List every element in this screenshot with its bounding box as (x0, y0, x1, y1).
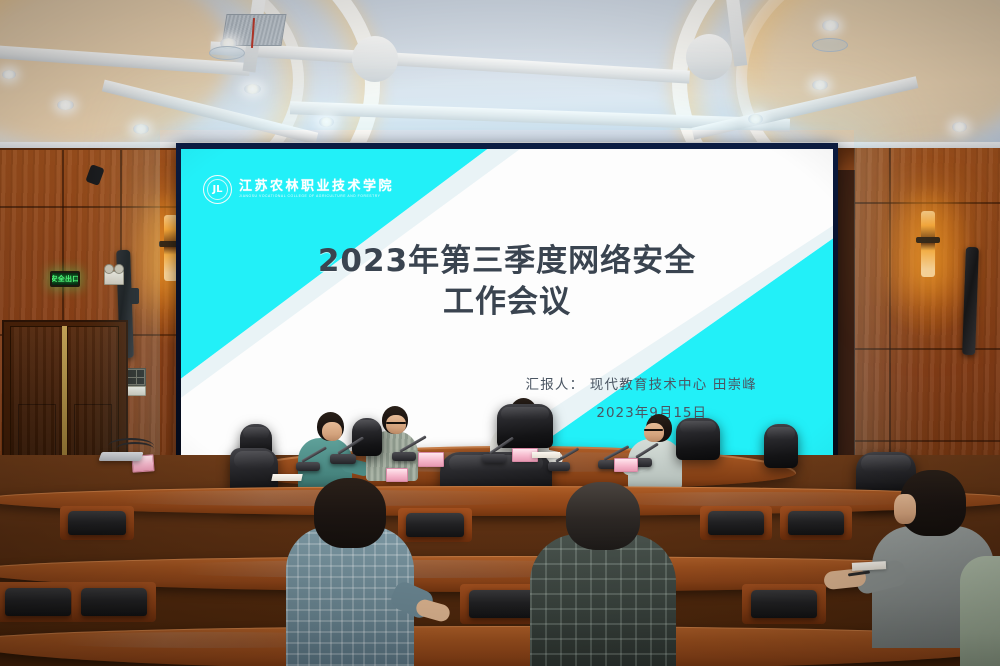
downlight-8 (748, 114, 763, 124)
torso (960, 556, 1000, 666)
downlight-4 (244, 84, 261, 94)
logo-seal-icon: JL (203, 175, 232, 204)
slide-title-line-1: 2023年第三季度网络安全 (207, 241, 807, 282)
downlight-10 (2, 70, 16, 79)
face (644, 423, 664, 442)
downlight-2 (133, 124, 149, 134)
downlight-6 (822, 20, 839, 31)
downlight-7 (812, 80, 828, 90)
torso (530, 534, 676, 666)
emergency-exit-sign: 安全出口 (50, 271, 80, 287)
name-card (386, 468, 408, 482)
face (322, 422, 342, 441)
chair-backrest (469, 590, 535, 618)
ceiling (0, 0, 1000, 160)
name-card (614, 458, 638, 472)
wall-seam (855, 202, 1000, 204)
slide-title: 2023年第三季度网络安全 工作会议 (181, 241, 833, 323)
cable-bundle (116, 442, 154, 456)
glasses-icon (386, 422, 406, 424)
logo-wordmark: 江苏农林职业技术学院 JIANGSU VOCATIONAL COLLEGE OF… (239, 180, 394, 199)
audience-desk-row3 (0, 626, 1000, 666)
downlight-1 (57, 100, 74, 110)
exec-chair-right[interactable] (676, 418, 720, 460)
door-panel-inset (18, 404, 56, 460)
face (894, 494, 916, 524)
documents (532, 452, 560, 458)
exec-chair-left-2[interactable] (352, 418, 382, 456)
conference-room-photo: 安全出口 JL 江苏农林职业技术学院 (0, 0, 1000, 666)
microphone-base (482, 454, 506, 463)
ceiling-circle-fixture-right (812, 38, 848, 52)
downlight-9 (952, 122, 967, 132)
name-card (418, 452, 444, 467)
wall-seam (855, 348, 1000, 350)
microphone-base (296, 462, 320, 471)
head (566, 482, 640, 550)
wall-seam (0, 206, 200, 208)
sconce-band-right (916, 237, 940, 243)
chair-backrest (5, 588, 71, 616)
chair-backrest (68, 511, 126, 535)
documents (271, 474, 302, 481)
exit-sign-label: 安全出口 (50, 276, 79, 283)
downlight-5 (319, 117, 334, 127)
ceiling-beam-center-node (352, 36, 398, 82)
chair-backrest (81, 588, 147, 616)
logo-monogram: JL (212, 185, 222, 195)
exec-chair-far-right[interactable] (764, 424, 798, 468)
wall-light-dome-a (104, 264, 114, 274)
slide-presenter: 汇报人： 现代教育技术中心 田崇峰 (526, 373, 757, 393)
institution-logo: JL 江苏农林职业技术学院 JIANGSU VOCATIONAL COLLEGE… (203, 175, 394, 204)
slide-title-line-2: 工作会议 (207, 282, 807, 323)
ceiling-circle-fixture (209, 46, 245, 60)
microphone-base (548, 462, 570, 471)
microphone-base (330, 454, 356, 464)
institution-name-en: JIANGSU VOCATIONAL COLLEGE OF AGRICULTUR… (239, 195, 394, 199)
head (314, 478, 386, 548)
wall-seam (855, 440, 1000, 442)
wall-sconce-right (921, 211, 935, 277)
speaker-mount-left (130, 288, 139, 304)
ceiling-ring-right-inner (736, 0, 1000, 160)
institution-name-cn: 江苏农林职业技术学院 (239, 180, 394, 194)
wall-outlet-left[interactable] (126, 368, 146, 386)
wall-light-dome-b (114, 264, 124, 274)
ceiling-beam-center-node-right (686, 34, 732, 80)
chair-backrest (708, 511, 764, 535)
chair-backrest (788, 511, 844, 535)
chair-backrest (751, 590, 817, 618)
microphone-base (392, 452, 416, 461)
face (386, 415, 406, 434)
chair-backrest (406, 513, 464, 537)
glasses-icon (644, 429, 663, 431)
